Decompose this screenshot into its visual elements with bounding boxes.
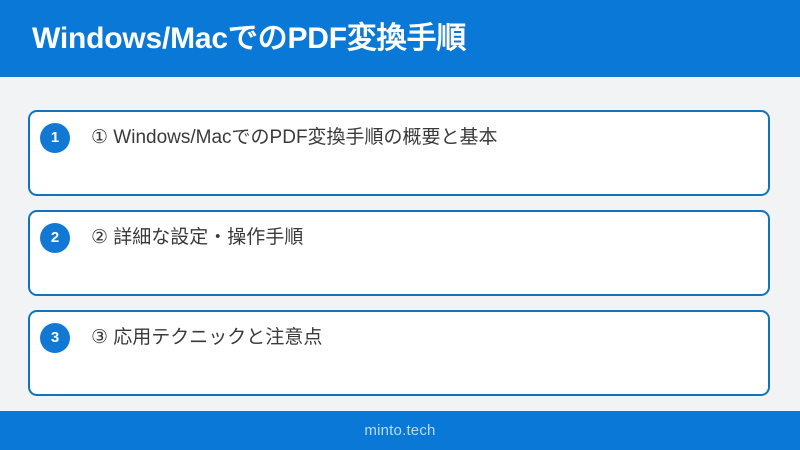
- footer-brand: minto.tech: [364, 422, 435, 440]
- agenda-item-2-label: ② 詳細な設定・操作手順: [91, 223, 758, 253]
- agenda-item-2-number-badge: 2: [40, 223, 70, 253]
- page-title: Windows/MacでのPDF変換手順: [32, 17, 772, 61]
- agenda-item-3-number-badge: 3: [40, 323, 70, 353]
- header-bar: Windows/MacでのPDF変換手順: [0, 0, 800, 77]
- agenda-item-3-label: ③ 応用テクニックと注意点: [91, 323, 758, 353]
- agenda-item-2-content: 2 ② 詳細な設定・操作手順: [40, 223, 758, 253]
- slide-root: Windows/MacでのPDF変換手順 1 ① Windows/MacでのPD…: [0, 0, 800, 450]
- agenda-item-1-number-badge: 1: [40, 123, 70, 153]
- agenda-item-3-content: 3 ③ 応用テクニックと注意点: [40, 323, 758, 353]
- agenda-item-3[interactable]: 3 ③ 応用テクニックと注意点: [28, 310, 770, 396]
- agenda-item-2[interactable]: 2 ② 詳細な設定・操作手順: [28, 210, 770, 296]
- footer-bar: minto.tech: [0, 411, 800, 450]
- agenda-item-1[interactable]: 1 ① Windows/MacでのPDF変換手順の概要と基本: [28, 110, 770, 196]
- agenda-item-1-label: ① Windows/MacでのPDF変換手順の概要と基本: [91, 123, 758, 153]
- agenda-item-1-content: 1 ① Windows/MacでのPDF変換手順の概要と基本: [40, 123, 758, 153]
- agenda-list: 1 ① Windows/MacでのPDF変換手順の概要と基本 2 ② 詳細な設定…: [28, 110, 770, 410]
